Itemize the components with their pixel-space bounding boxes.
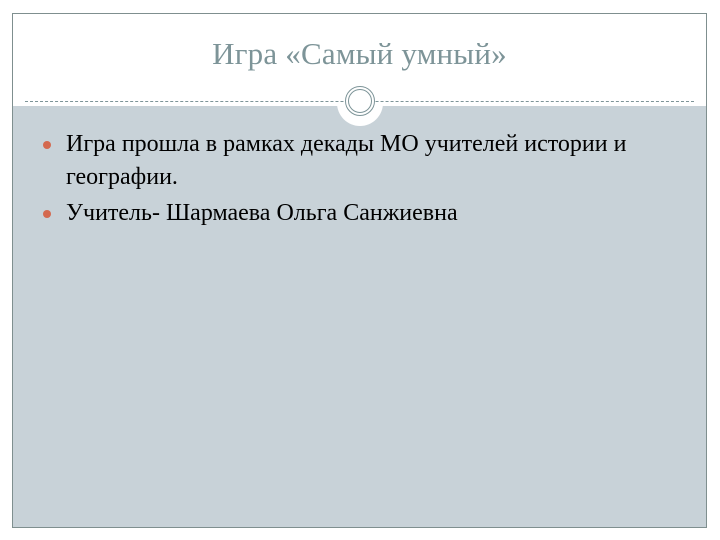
bullet-list: Игра прошла в рамках декады МО учителей … bbox=[33, 128, 663, 233]
bullet-dot-icon bbox=[43, 141, 51, 149]
list-item-text: Игра прошла в рамках декады МО учителей … bbox=[66, 131, 626, 190]
circle-ornament-inner-icon bbox=[348, 89, 372, 113]
list-item-text: Учитель- Шармаева Ольга Санжиевна bbox=[66, 200, 458, 226]
slide-canvas: Игра «Самый умный» Игра прошла в рамках … bbox=[12, 13, 707, 528]
page-title: Игра «Самый умный» bbox=[13, 35, 706, 73]
list-item: Учитель- Шармаева Ольга Санжиевна bbox=[33, 197, 663, 230]
bullet-dot-icon bbox=[43, 210, 51, 218]
slide-body: Игра прошла в рамках декады МО учителей … bbox=[13, 106, 706, 527]
list-item: Игра прошла в рамках декады МО учителей … bbox=[33, 128, 663, 194]
circle-ornament-icon bbox=[345, 86, 375, 116]
